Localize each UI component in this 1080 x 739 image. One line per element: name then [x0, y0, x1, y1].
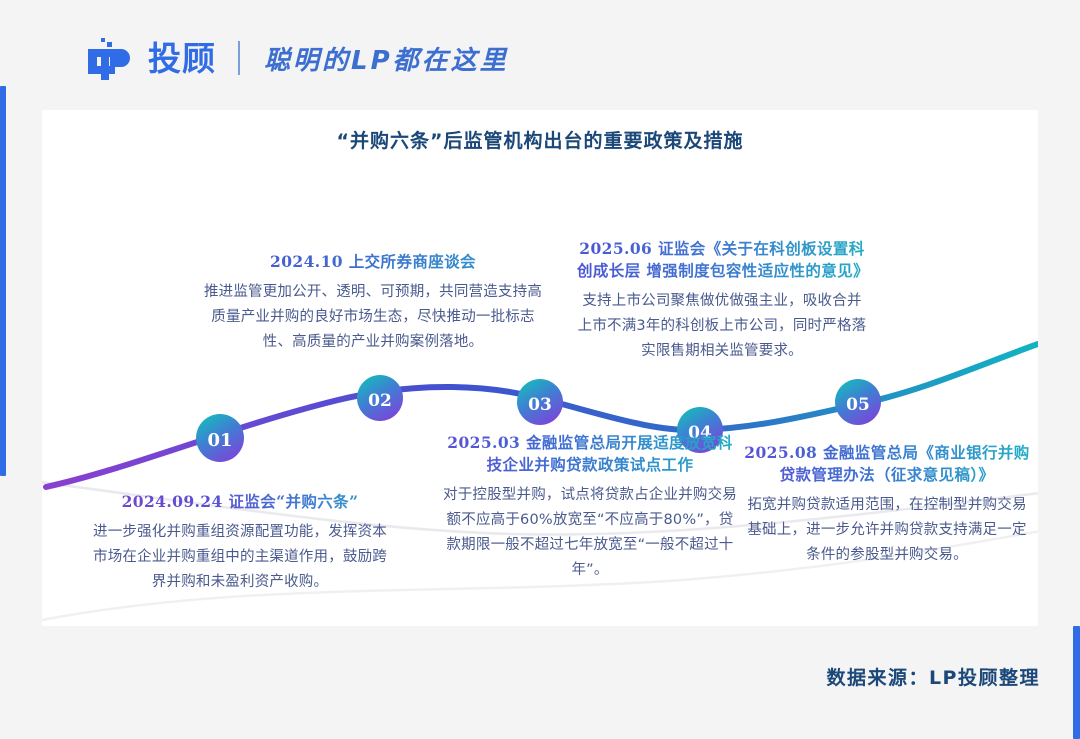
timeline-node-03[interactable]: 03: [517, 379, 563, 425]
timeline-item-02-heading: 2024.10 上交所券商座谈会: [197, 251, 549, 273]
timeline-item-01-heading: 2024.09.24 证监会“并购六条”: [90, 491, 390, 513]
timeline-item-01: 2024.09.24 证监会“并购六条” 进一步强化并购重组资源配置功能，发挥资…: [90, 491, 390, 595]
timeline-item-05: 2025.08 金融监管总局《商业银行并购贷款管理办法（征求意见稿）》 拓宽并购…: [742, 442, 1032, 568]
right-accent-bar: [1073, 626, 1080, 739]
timeline-node-05-label: 05: [846, 395, 870, 415]
brand-divider: [238, 41, 240, 75]
timeline-item-05-body: 拓宽并购贷款适用范围，在控制型并购交易基础上，进一步允许并购贷款支持满足一定条件…: [742, 493, 1032, 568]
timeline-item-02-body: 推进监管更加公开、透明、可预期，共同营造支持高质量产业并购的良好市场生态，尽快推…: [197, 280, 549, 355]
brand-header: 投顾 聪明的LP都在这里: [88, 30, 509, 86]
timeline-node-05[interactable]: 05: [835, 379, 881, 425]
timeline-item-04-body: 支持上市公司聚焦做优做强主业，吸收合并上市不满3年的科创板上市公司，同时严格落实…: [577, 289, 867, 364]
data-source-label: 数据来源：LP投顾整理: [826, 663, 1040, 690]
timeline-node-01-label: 01: [207, 430, 232, 451]
left-accent-bar: [0, 86, 6, 476]
lp-logo-icon: [88, 36, 134, 80]
brand-word: 投顾: [148, 42, 216, 75]
timeline-item-03: 2025.03 金融监管总局开展适度放宽科技企业并购贷款政策试点工作 对于控股型…: [440, 432, 740, 583]
timeline-item-04: 2025.06 证监会《关于在科创板设置科创成长层 增强制度包容性适应性的意见》…: [577, 238, 867, 364]
timeline-node-02-label: 02: [368, 391, 392, 411]
timeline-node-02[interactable]: 02: [357, 375, 403, 421]
timeline-node-01[interactable]: 01: [196, 414, 244, 462]
timeline-item-02: 2024.10 上交所券商座谈会 推进监管更加公开、透明、可预期，共同营造支持高…: [197, 251, 549, 355]
brand-tagline: 聪明的LP都在这里: [264, 40, 509, 77]
timeline-item-03-heading: 2025.03 金融监管总局开展适度放宽科技企业并购贷款政策试点工作: [440, 432, 740, 476]
timeline-item-05-heading: 2025.08 金融监管总局《商业银行并购贷款管理办法（征求意见稿）》: [742, 442, 1032, 486]
timeline-item-01-body: 进一步强化并购重组资源配置功能，发挥资本市场在企业并购重组中的主渠道作用，鼓励跨…: [90, 520, 390, 595]
content-card: “并购六条”后监管机构出台的重要政策及措施 0: [42, 110, 1038, 626]
timeline-node-03-label: 03: [528, 395, 552, 415]
timeline-item-03-body: 对于控股型并购，试点将贷款占企业并购交易额不应高于60%放宽至“不应高于80%”…: [440, 483, 740, 583]
timeline-item-04-heading: 2025.06 证监会《关于在科创板设置科创成长层 增强制度包容性适应性的意见》: [577, 238, 867, 282]
